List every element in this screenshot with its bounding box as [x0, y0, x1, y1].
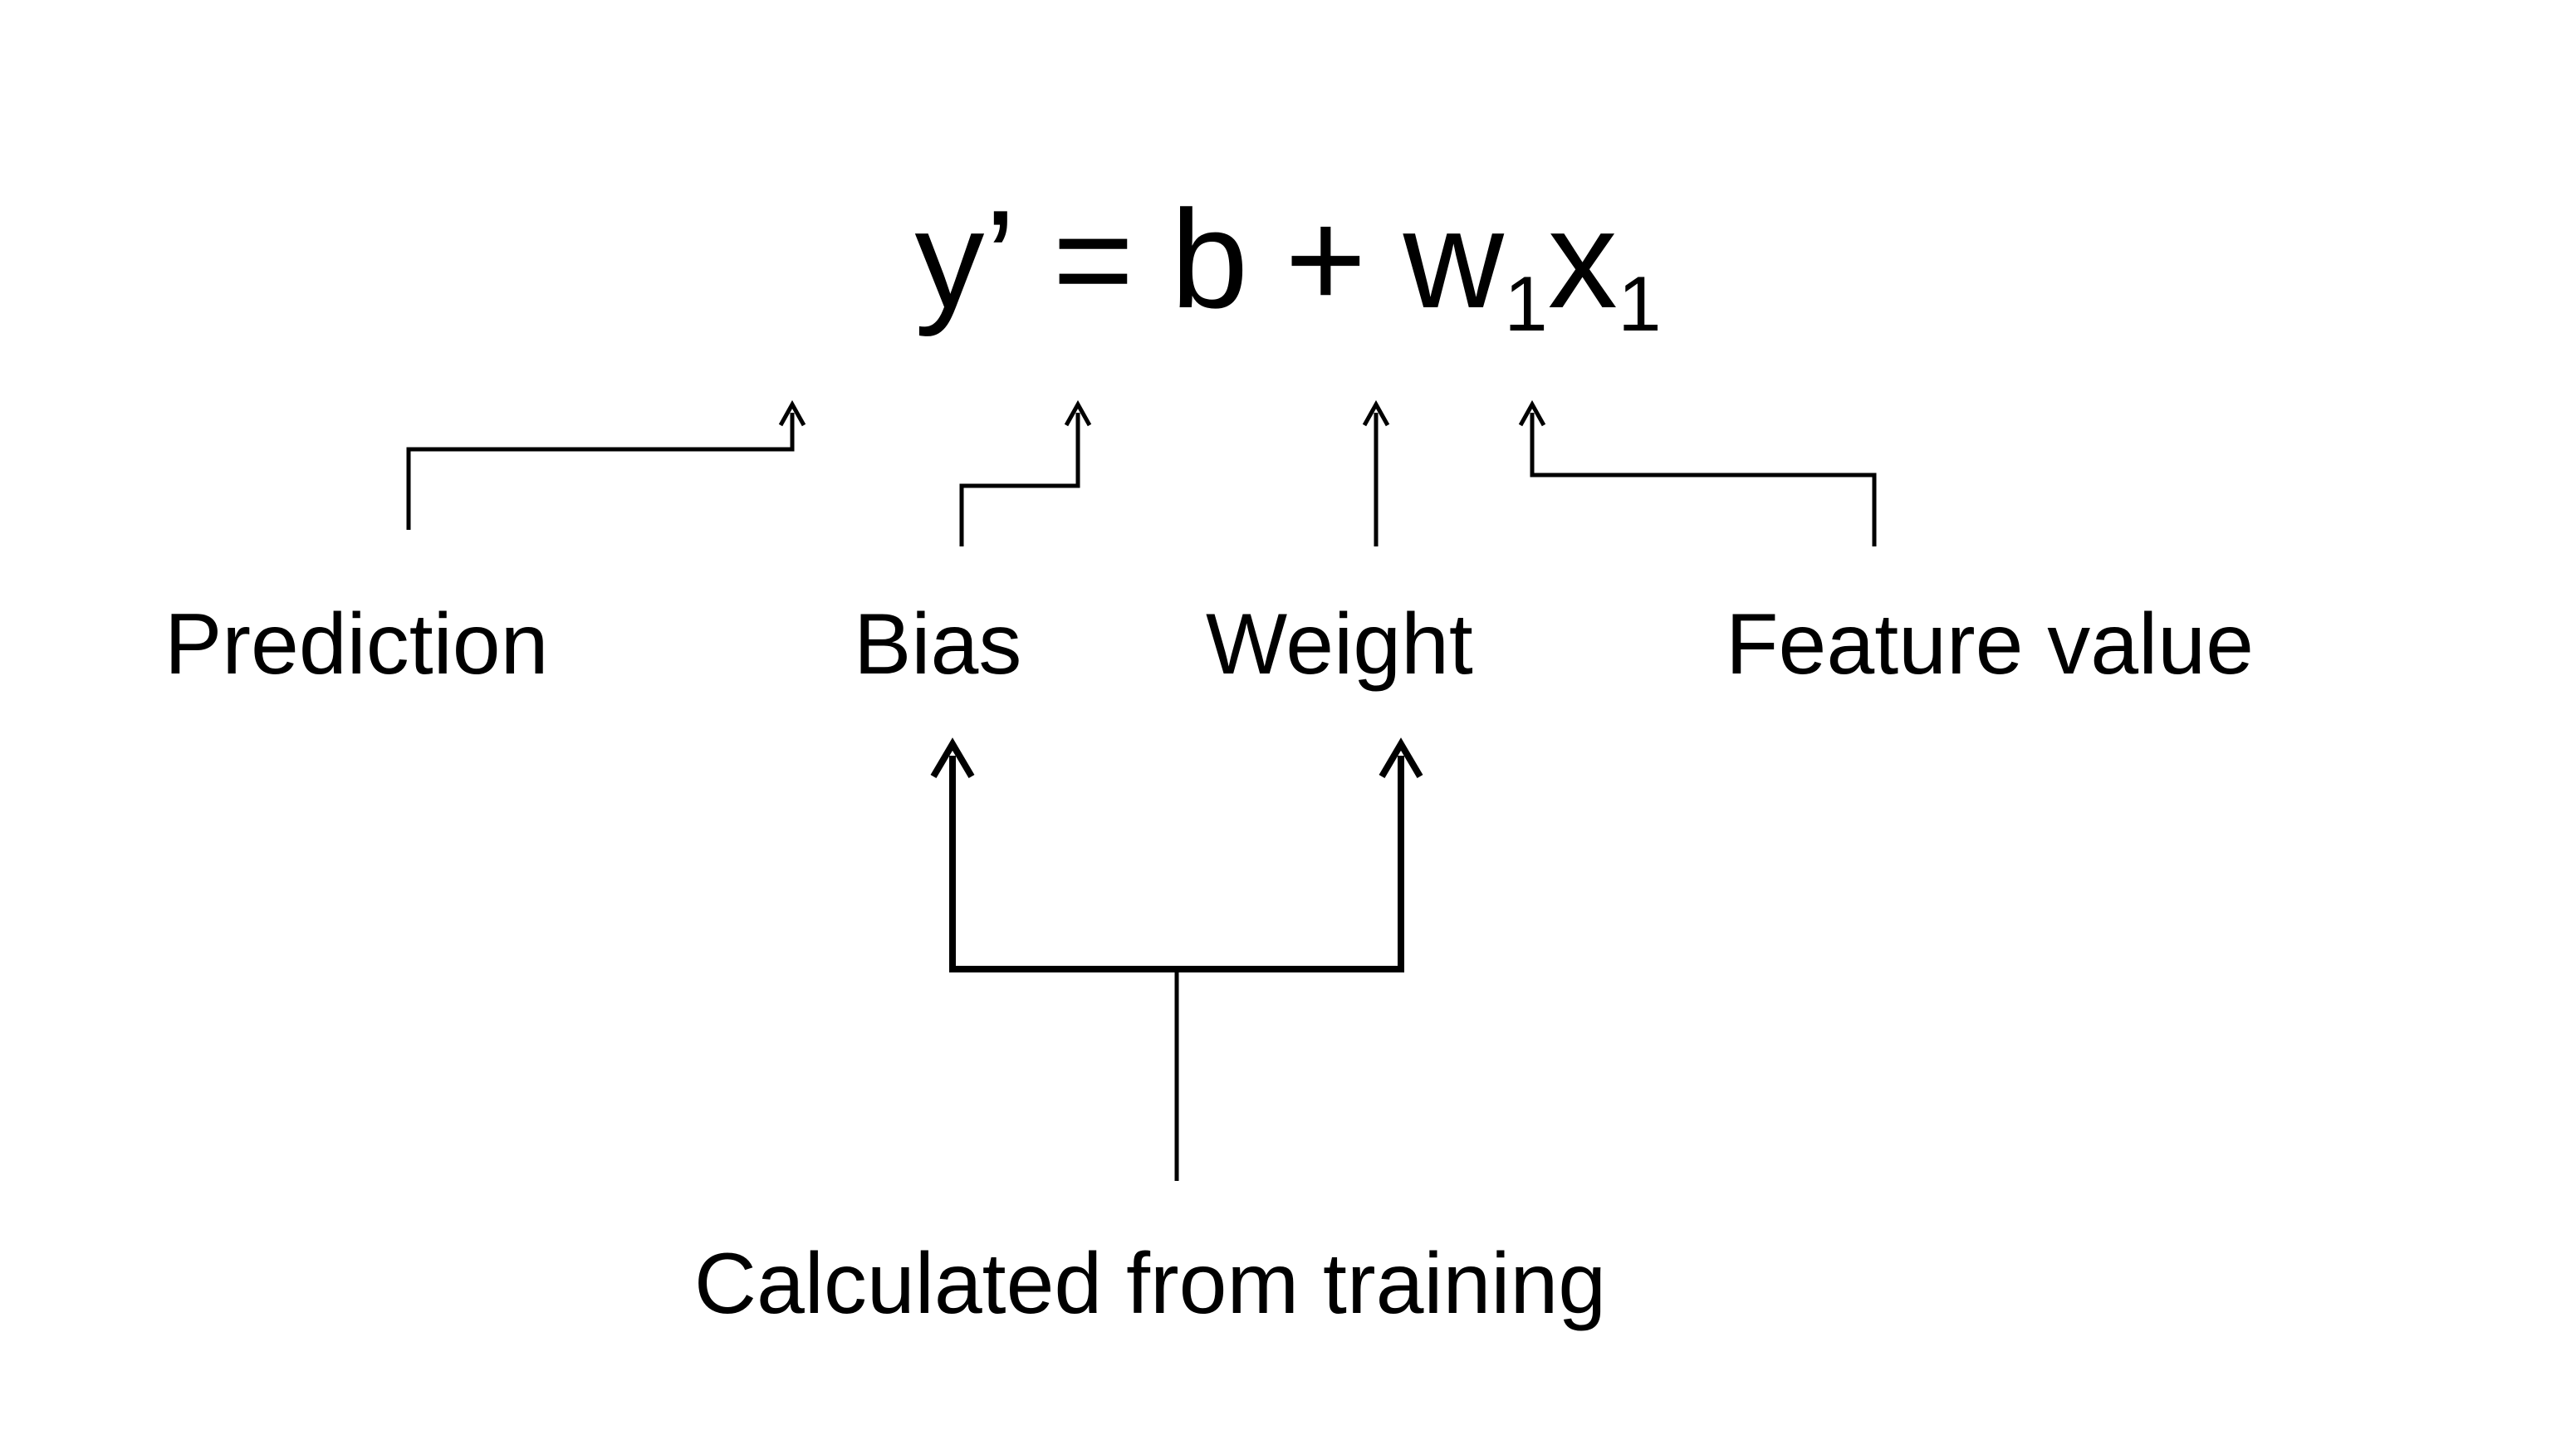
equation-weight-symbol: w: [1403, 181, 1505, 337]
training-right-arrowhead-icon: [1382, 744, 1420, 776]
term-label-weight: Weight: [1206, 601, 1473, 688]
feature-arrowhead-icon: [1521, 404, 1544, 425]
term-label-bias: Bias: [854, 601, 1021, 688]
prediction-arrowhead-icon: [781, 404, 804, 425]
diagram-canvas: y’=b+w1x1: [0, 0, 2576, 1440]
equation-plus-sign: +: [1285, 181, 1367, 337]
weight-arrowhead-icon: [1364, 404, 1388, 425]
term-label-prediction: Prediction: [164, 601, 548, 688]
feature-connector: [1521, 404, 1874, 546]
bottom-caption-calculated-from-training: Calculated from training: [694, 1236, 1606, 1332]
prediction-connector: [409, 404, 804, 530]
equation-feature-subscript: 1: [1618, 260, 1661, 347]
bias-arrowhead-icon: [1066, 404, 1090, 425]
term-label-feature-value: Feature value: [1726, 601, 2254, 688]
bottom-caption-wrapper: Calculated from training: [0, 1241, 2576, 1327]
equation-weight-subscript: 1: [1504, 260, 1547, 347]
equation-feature-symbol: x: [1548, 181, 1619, 337]
training-left-arrowhead-icon: [933, 744, 972, 776]
equation-equals-sign: =: [1052, 181, 1134, 337]
bias-connector: [962, 404, 1090, 546]
equation-y-prime: y’: [914, 181, 1016, 337]
equation: y’=b+w1x1: [0, 189, 2576, 329]
equation-bias-symbol: b: [1171, 181, 1249, 337]
training-bracket-connector: [933, 744, 1420, 1181]
weight-connector: [1364, 404, 1388, 546]
